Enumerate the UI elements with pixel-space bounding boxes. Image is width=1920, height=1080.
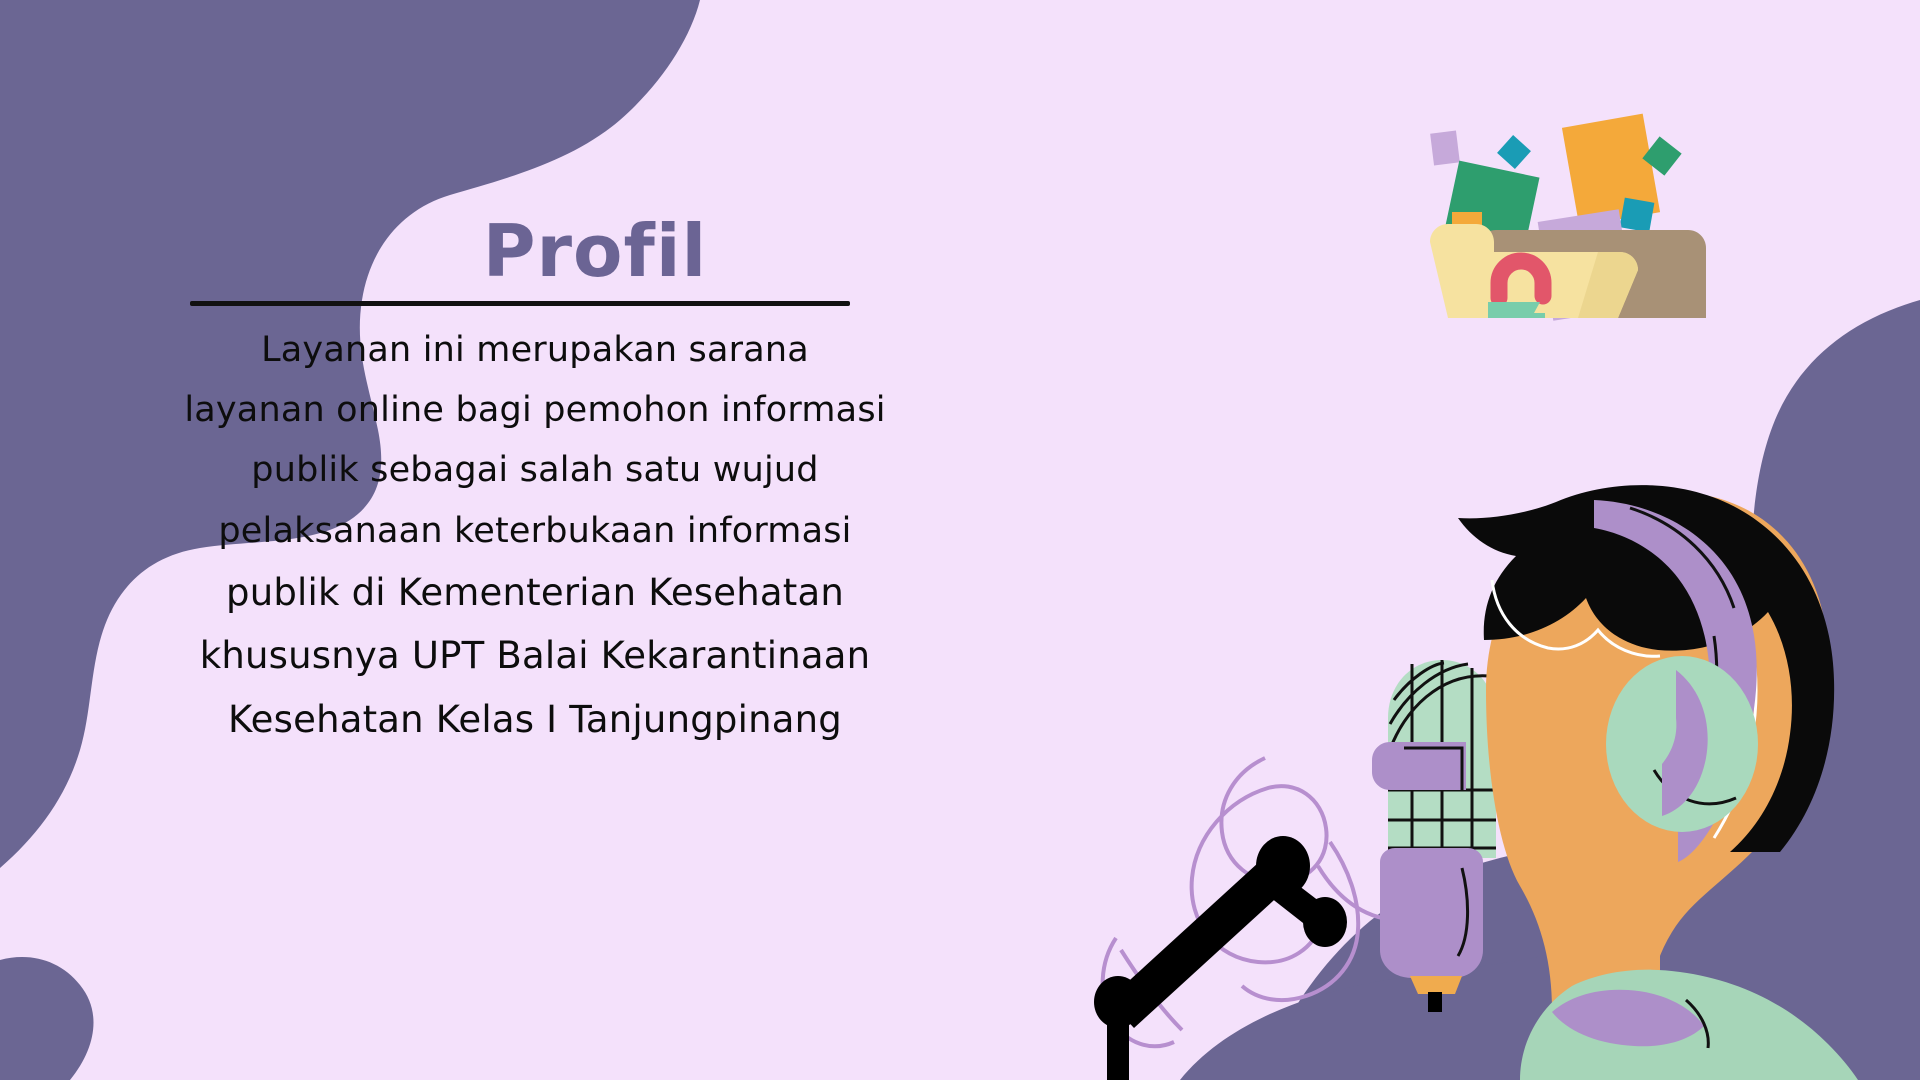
slide-canvas: Profil Layanan ini merupakan saranalayan… — [0, 0, 1920, 1080]
profile-description: Layanan ini merupakan saranalayanan onli… — [150, 320, 920, 752]
microphone-boom-arm — [1094, 836, 1347, 1080]
mic-connector — [1428, 992, 1442, 1012]
description-line: khususnya UPT Balai Kekarantinaan — [154, 624, 916, 688]
description-line: layanan online bagi pemohon informasi — [154, 380, 916, 440]
description-line: publik di Kementerian Kesehatan — [154, 561, 916, 625]
description-line: publik sebagai salah satu wujud — [154, 440, 916, 500]
mic-gold-ring — [1410, 976, 1462, 994]
description-line: pelaksanaan keterbukaan informasi — [154, 501, 916, 561]
text-content-block: Profil Layanan ini merupakan saranalayan… — [150, 215, 920, 752]
description-line: Layanan ini merupakan sarana — [154, 320, 916, 380]
page-title: Profil — [150, 215, 920, 287]
title-underline-rule — [190, 301, 850, 306]
description-line: Kesehatan Kelas I Tanjungpinang — [154, 688, 916, 752]
studio-microphone — [1372, 660, 1496, 1012]
